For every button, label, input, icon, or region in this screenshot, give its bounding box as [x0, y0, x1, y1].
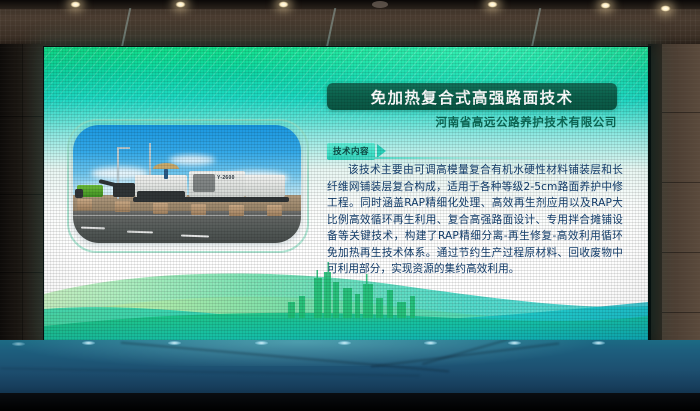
machine-panel — [193, 174, 215, 192]
ceiling-spotlight — [660, 5, 671, 12]
road-barrier — [77, 199, 92, 210]
floor-light-reflection — [508, 341, 521, 345]
street-light-arm — [117, 147, 130, 149]
slide-body-text: 该技术主要由可调高模量复合有机水硬性材料铺装层和长纤维网铺装层复合构成，适用于各… — [327, 162, 623, 278]
carpet-crease — [0, 367, 420, 376]
stage-floor — [0, 340, 700, 395]
road-barrier — [229, 205, 244, 216]
ceiling-spotlight — [175, 1, 186, 8]
section-header: 技术内容 — [327, 141, 627, 160]
ceiling-spotlight — [487, 1, 498, 8]
floor-light-reflection — [12, 342, 25, 346]
worker-figure — [164, 169, 168, 179]
floor-light-reflection — [82, 341, 95, 345]
ceiling-vent — [372, 1, 388, 8]
wall-seam — [0, 116, 46, 117]
slide-title: 免加热复合式高强路面技术 — [371, 86, 574, 108]
recycling-machine-unit-3 — [245, 175, 285, 197]
road-barrier — [267, 205, 282, 216]
section-divider — [327, 157, 627, 159]
wall-seam — [0, 272, 46, 273]
floor-light-reflection — [255, 341, 268, 345]
company-name: 河南省高远公路养护技术有限公司 — [327, 114, 617, 130]
ceiling-spotlight — [600, 2, 611, 9]
ceiling — [0, 0, 700, 46]
road-barrier — [191, 204, 206, 215]
floor-light-reflection — [592, 341, 605, 345]
ceiling-spotlight — [278, 1, 289, 8]
led-screen-bezel: Y-2600 免加热复合式高强路面技术 河南省高远公路养护技术有限公司 技术内容… — [43, 46, 651, 343]
machine-chassis — [133, 197, 289, 202]
cloud — [169, 155, 215, 165]
floor-light-reflection — [424, 341, 437, 345]
wall-seam — [0, 194, 46, 195]
technology-photo: Y-2600 — [73, 125, 301, 243]
haul-truck-cab — [75, 189, 83, 198]
wall-seam-vertical — [22, 44, 23, 344]
road-barrier — [153, 203, 168, 214]
led-screen-display: Y-2600 免加热复合式高强路面技术 河南省高远公路养护技术有限公司 技术内容… — [44, 47, 648, 340]
conveyor-support — [113, 183, 135, 197]
wall-panel-left — [0, 44, 46, 344]
ceiling-front-beam — [0, 0, 700, 9]
floor-light-reflection — [338, 341, 351, 345]
machine-model-label: Y-2600 — [217, 175, 235, 181]
slide-title-badge: 免加热复合式高强路面技术 — [327, 83, 617, 110]
foreground-shadow — [0, 393, 700, 411]
conference-room-scene: Y-2600 免加热复合式高强路面技术 河南省高远公路养护技术有限公司 技术内容… — [0, 0, 700, 411]
floor-light-reflection — [168, 341, 181, 345]
ceiling-spotlight — [70, 1, 81, 8]
road-barrier — [115, 201, 130, 212]
